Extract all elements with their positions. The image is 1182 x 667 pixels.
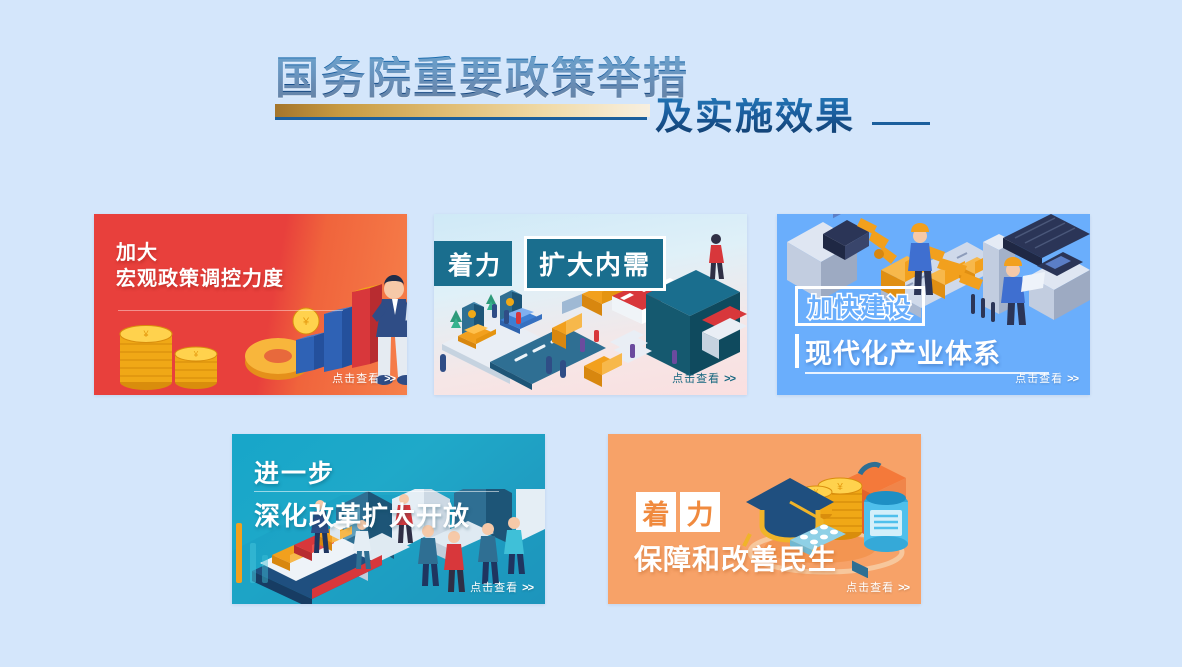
card-improve-livelihood-title-char-2: 力 [680,492,720,532]
card-deepen-reform-divider [254,491,499,492]
card-expand-domestic-demand-title-block: 着力 [434,241,512,286]
card-macro-policy-title-line-1: 加大 [116,240,284,266]
card-macro-policy-divider [118,310,343,311]
chevron-right-icon: >> [1067,373,1078,385]
card-modern-industrial-system-title-box: 加快建设 [795,286,925,326]
chevron-right-icon: >> [898,582,909,594]
card-expand-domestic-demand[interactable]: 着力 扩大内需 点击查看>> [434,214,747,395]
card-modern-industrial-system-title-line-1: 加快建设 [808,288,912,324]
page-title-line-1: 国务院重要政策举措 [275,56,689,102]
title-left-accent-bar [795,334,799,368]
card-improve-livelihood-title-line-2: 保障和改善民生 [634,538,837,578]
card-modern-industrial-system-title-line-2: 现代化产业体系 [805,332,1001,371]
card-improve-livelihood[interactable]: ¥ ¥ [608,434,921,604]
card-macro-policy[interactable]: ¥ ¥ ¥ [94,214,407,395]
svg-text:¥: ¥ [836,482,843,493]
card-expand-domestic-demand-title-part2: 扩大内需 [539,245,651,282]
card-macro-policy-cta[interactable]: 点击查看>> [332,370,395,386]
title-rule-right [872,122,930,125]
svg-text:¥: ¥ [302,316,310,328]
card-macro-policy-title-line-2: 宏观政策调控力度 [116,266,284,292]
card-expand-domestic-demand-cta[interactable]: 点击查看>> [672,370,735,386]
card-deepen-reform-opening-up[interactable]: 进一步 深化改革扩大开放 点击查看>> [232,434,545,604]
title-underline [805,372,1049,374]
walking-people-icon [702,232,742,282]
chevron-right-icon: >> [522,582,533,594]
card-deepen-reform-title-line-1: 进一步 [254,454,335,490]
card-macro-policy-cta-label: 点击查看 [332,373,380,385]
page-title-line-2: 及实施效果 [655,98,855,138]
svg-text:¥: ¥ [193,350,199,359]
card-expand-domestic-demand-title-part1: 着力 [448,246,502,282]
card-modern-industrial-system-cta[interactable]: 点击查看>> [1015,370,1078,386]
card-improve-livelihood-title-char-1: 着 [636,492,676,532]
svg-text:¥: ¥ [142,329,149,339]
card-deepen-reform-cta-label: 点击查看 [470,582,518,594]
page-header: 国务院重要政策举措 及实施效果 [0,0,1182,180]
chevron-right-icon: >> [384,373,395,385]
title-rule-left [275,117,647,120]
card-modern-industrial-system[interactable]: 加快建设 现代化产业体系 点击查看>> [777,214,1090,395]
coins-illustration: ¥ ¥ [112,310,262,390]
card-expand-domestic-demand-title-box: 扩大内需 [524,236,666,291]
chevron-right-icon: >> [724,373,735,385]
card-deepen-reform-cta[interactable]: 点击查看>> [470,579,533,595]
card-modern-industrial-system-cta-label: 点击查看 [1015,373,1063,385]
card-expand-domestic-demand-cta-label: 点击查看 [672,373,720,385]
card-improve-livelihood-cta[interactable]: 点击查看>> [846,579,909,595]
card-deepen-reform-title-line-2: 深化改革扩大开放 [254,496,470,533]
card-macro-policy-title: 加大 宏观政策调控力度 [116,240,284,293]
card-improve-livelihood-cta-label: 点击查看 [846,582,894,594]
title-accent-bar [275,104,650,117]
